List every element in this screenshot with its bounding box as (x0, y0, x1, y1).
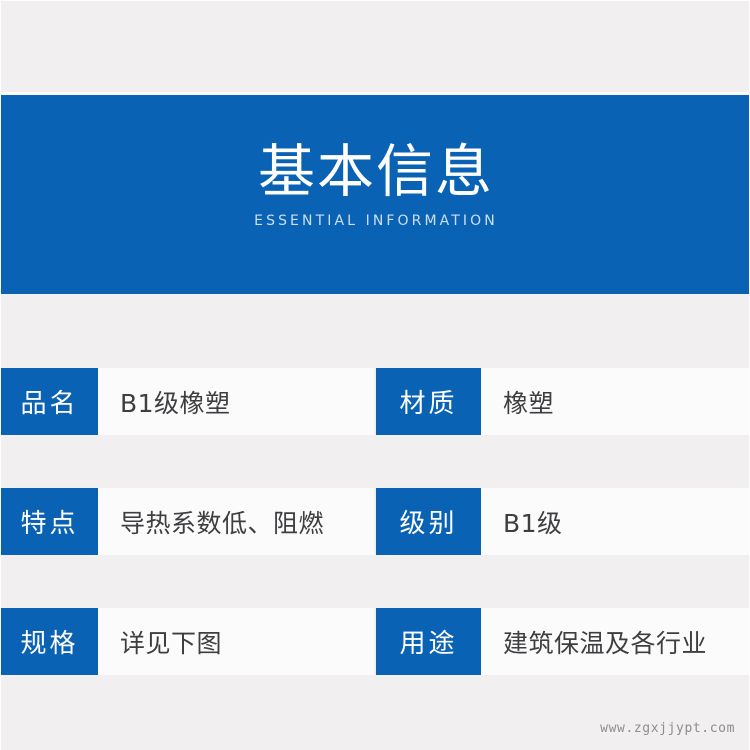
row-label-cell: 特点 (1, 488, 98, 555)
row-value-cell: 建筑保温及各行业 (481, 608, 750, 675)
row-label-cell: 材质 (376, 368, 481, 435)
banner-title: 基本信息 (258, 139, 494, 206)
product-info-page: 基本信息 ESSENTIAL INFORMATION 品名 B1级橡塑 材质 橡… (0, 0, 750, 750)
row-value-cell: 导热系数低、阻燃 (98, 488, 374, 555)
table-row: 品名 B1级橡塑 材质 橡塑 (1, 368, 750, 435)
site-watermark: www.zgxjjypt.com (600, 721, 735, 736)
section-banner: 基本信息 ESSENTIAL INFORMATION (1, 95, 750, 294)
info-table: 品名 B1级橡塑 材质 橡塑 特点 导热系数低、阻燃 级别 B1级 规格 详见下… (1, 294, 750, 750)
row-value-cell: B1级橡塑 (98, 368, 374, 435)
table-row: 规格 详见下图 用途 建筑保温及各行业 (1, 608, 750, 675)
row-label-cell: 用途 (376, 608, 481, 675)
row-value-cell: 详见下图 (98, 608, 374, 675)
row-value-cell: 橡塑 (481, 368, 750, 435)
table-row: 特点 导热系数低、阻燃 级别 B1级 (1, 488, 750, 555)
row-value-cell: B1级 (481, 488, 750, 555)
banner-subtitle: ESSENTIAL INFORMATION (254, 214, 498, 228)
top-spacer (1, 1, 750, 95)
row-label-cell: 规格 (1, 608, 98, 675)
row-label-cell: 级别 (376, 488, 481, 555)
row-label-cell: 品名 (1, 368, 98, 435)
